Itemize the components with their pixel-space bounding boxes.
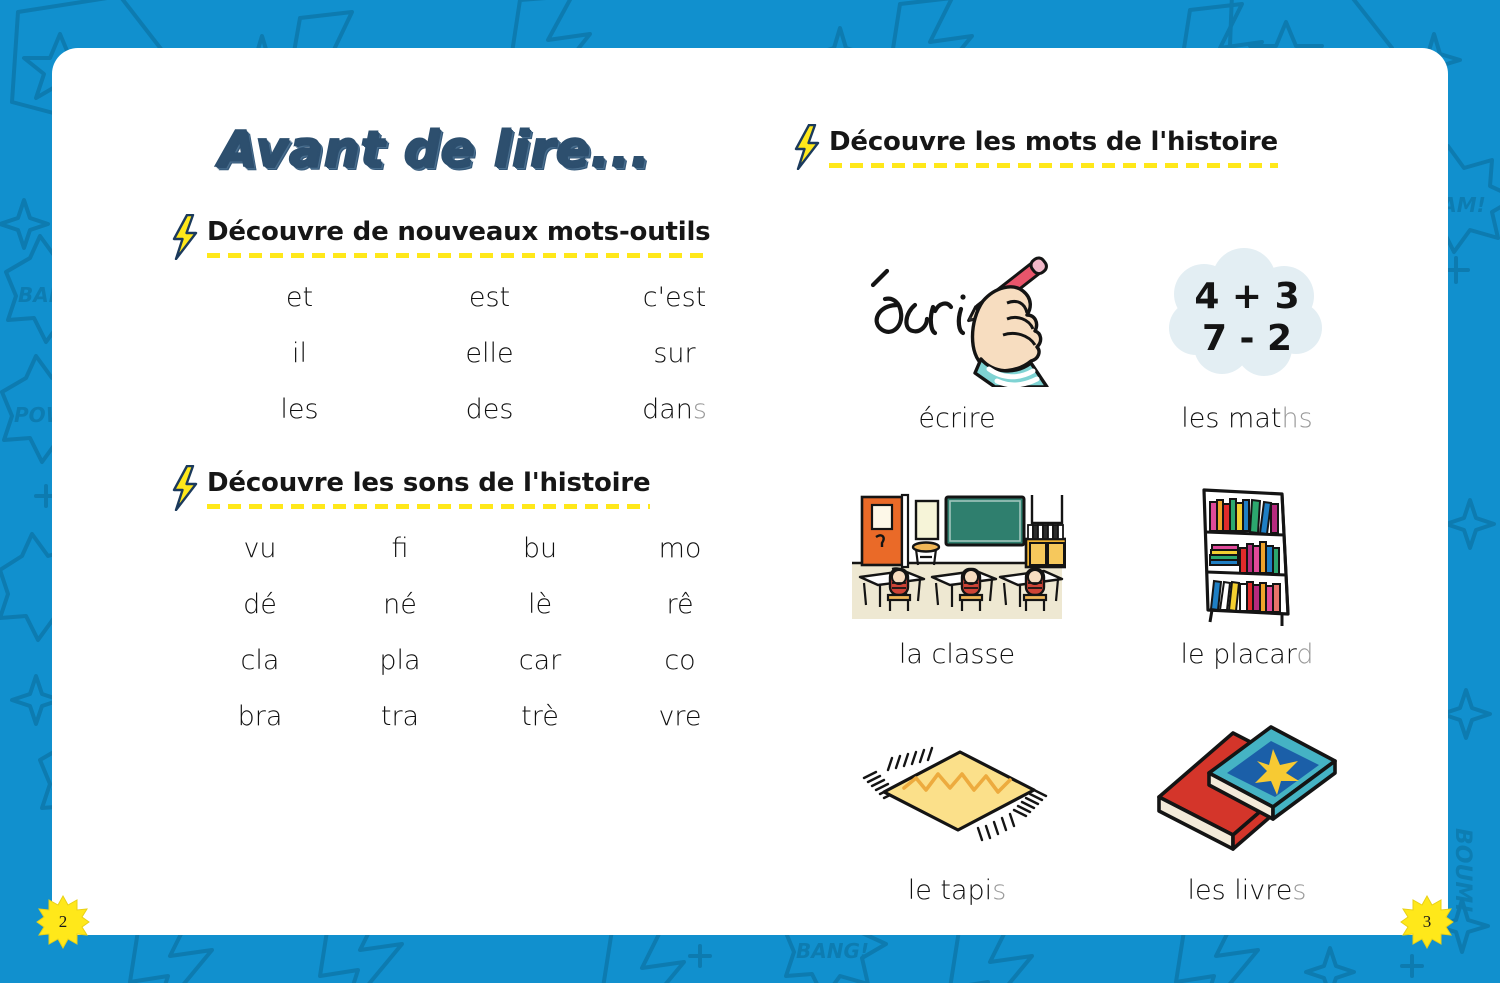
maths-sum-line-2: 7 - 2 (1202, 318, 1292, 359)
word-cell: lè (470, 589, 610, 620)
section-title-story-words: Découvre les mots de l'histoire (829, 127, 1278, 157)
section-heading-sounds: Découvre les sons de l'histoire (170, 469, 770, 511)
section-heading-story-words: Découvre les mots de l'histoire (792, 128, 1392, 170)
sound-words-grid: vufibumodénélèrêclaplacarcobratratrèvre (190, 533, 770, 732)
picture-label: écrire (918, 403, 995, 434)
word-text: cla (241, 645, 280, 676)
section-title-tool-words: Découvre de nouveaux mots-outils (207, 217, 710, 247)
word-cell: les (202, 394, 397, 425)
lightning-bolt-icon (170, 465, 200, 511)
right-page-column: Découvre les mots de l'histoire (792, 98, 1392, 906)
page-number: 3 (1423, 913, 1432, 930)
word-cell: dans (582, 394, 767, 425)
maths-sum-line-1: 4 + 3 (1194, 276, 1299, 317)
maths-cloud-illustration: 4 + 3 7 - 2 (1152, 242, 1342, 392)
word-cell: né (330, 589, 470, 620)
word-text: dan (642, 394, 693, 425)
word-cell: vu (190, 533, 330, 564)
picture-label: le tapis (908, 875, 1007, 906)
word-cell: car (470, 645, 610, 676)
dashed-underline (829, 163, 1278, 168)
word-text: les (280, 394, 318, 425)
word-text: des (466, 394, 514, 425)
word-cell: cla (190, 645, 330, 676)
word-text: rê (666, 589, 693, 620)
picture-label: les maths (1181, 403, 1312, 434)
picture-card-le-placard: le placard (1102, 440, 1392, 670)
word-text: lè (528, 589, 552, 620)
picture-card-les-livres: les livres (1102, 676, 1392, 906)
word-cell: trè (470, 701, 610, 732)
word-cell: est (397, 282, 582, 313)
picture-card-les-maths: 4 + 3 7 - 2 les maths (1102, 204, 1392, 434)
word-cell: rê (610, 589, 750, 620)
word-text: trè (521, 701, 559, 732)
tool-words-grid: etestc'estilellesurlesdesdans (202, 282, 770, 425)
word-text: car (519, 645, 562, 676)
word-cell: fi (330, 533, 470, 564)
word-cell: tra (330, 701, 470, 732)
word-text: pla (379, 645, 420, 676)
word-cell: des (397, 394, 582, 425)
books-illustration (1147, 714, 1347, 864)
picture-label: les livres (1188, 875, 1307, 906)
word-text: tra (381, 701, 419, 732)
word-cell: sur (582, 338, 767, 369)
word-text: il (292, 338, 307, 369)
rug-illustration (852, 714, 1062, 864)
word-text: bu (523, 533, 557, 564)
word-cell: bra (190, 701, 330, 732)
page-number: 2 (59, 913, 68, 930)
dashed-underline (207, 253, 710, 258)
page-title: Avant de lire... (218, 120, 770, 178)
word-cell: bu (470, 533, 610, 564)
word-text: vu (243, 533, 276, 564)
picture-card-ecrire: écrire (812, 204, 1102, 434)
story-words-picture-grid: écrire (812, 204, 1392, 906)
picture-label: la classe (899, 639, 1015, 670)
word-cell: vre (610, 701, 750, 732)
svg-text:BANG!: BANG! (796, 939, 869, 963)
word-text: est (469, 282, 510, 313)
section-title-sounds: Découvre les sons de l'histoire (207, 468, 650, 498)
hand-writing-pencil-illustration (857, 242, 1057, 392)
word-text: fi (391, 533, 408, 564)
word-cell: et (202, 282, 397, 313)
lightning-bolt-icon (170, 214, 200, 260)
word-text: elle (465, 338, 513, 369)
word-text: vre (658, 701, 701, 732)
classroom-illustration (848, 478, 1066, 628)
section-heading-tool-words: Découvre de nouveaux mots-outils (170, 218, 770, 260)
word-text: mo (659, 533, 702, 564)
word-text: bra (238, 701, 283, 732)
word-text: dé (243, 589, 277, 620)
word-text: c'est (643, 282, 707, 313)
word-text: et (286, 282, 313, 313)
picture-card-la-classe: la classe (812, 440, 1102, 670)
page-spread-panel: Avant de lire... Découvre de nouveaux mo… (52, 48, 1448, 935)
word-cell: elle (397, 338, 582, 369)
word-cell: mo (610, 533, 750, 564)
page-number-badge-left: 2 (36, 895, 90, 949)
bookshelf-illustration (1182, 478, 1312, 628)
word-cell: dé (190, 589, 330, 620)
word-cell: co (610, 645, 750, 676)
left-page-column: Avant de lire... Découvre de nouveaux mo… (170, 88, 770, 732)
lightning-bolt-icon (792, 124, 822, 170)
dashed-underline (207, 504, 650, 509)
word-text: co (664, 645, 695, 676)
page-number-badge-right: 3 (1400, 895, 1454, 949)
picture-label: le placard (1180, 639, 1313, 670)
picture-card-le-tapis: le tapis (812, 676, 1102, 906)
word-text: né (383, 589, 417, 620)
silent-letter: s (693, 394, 707, 425)
word-cell: c'est (582, 282, 767, 313)
word-text: sur (653, 338, 695, 369)
word-cell: il (202, 338, 397, 369)
word-cell: pla (330, 645, 470, 676)
